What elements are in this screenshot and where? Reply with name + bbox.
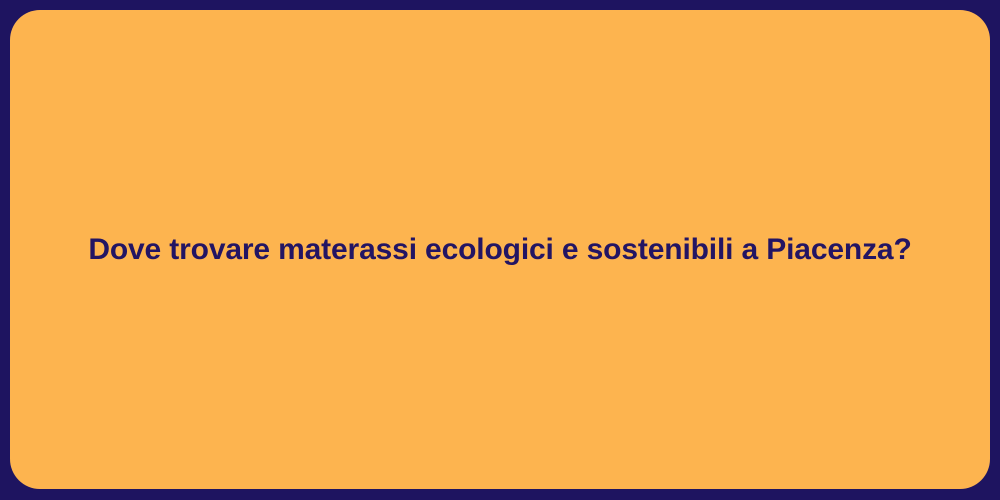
- content-card: Dove trovare materassi ecologici e soste…: [10, 10, 990, 489]
- page-title: Dove trovare materassi ecologici e soste…: [88, 230, 911, 269]
- page-canvas: Dove trovare materassi ecologici e soste…: [0, 0, 1000, 500]
